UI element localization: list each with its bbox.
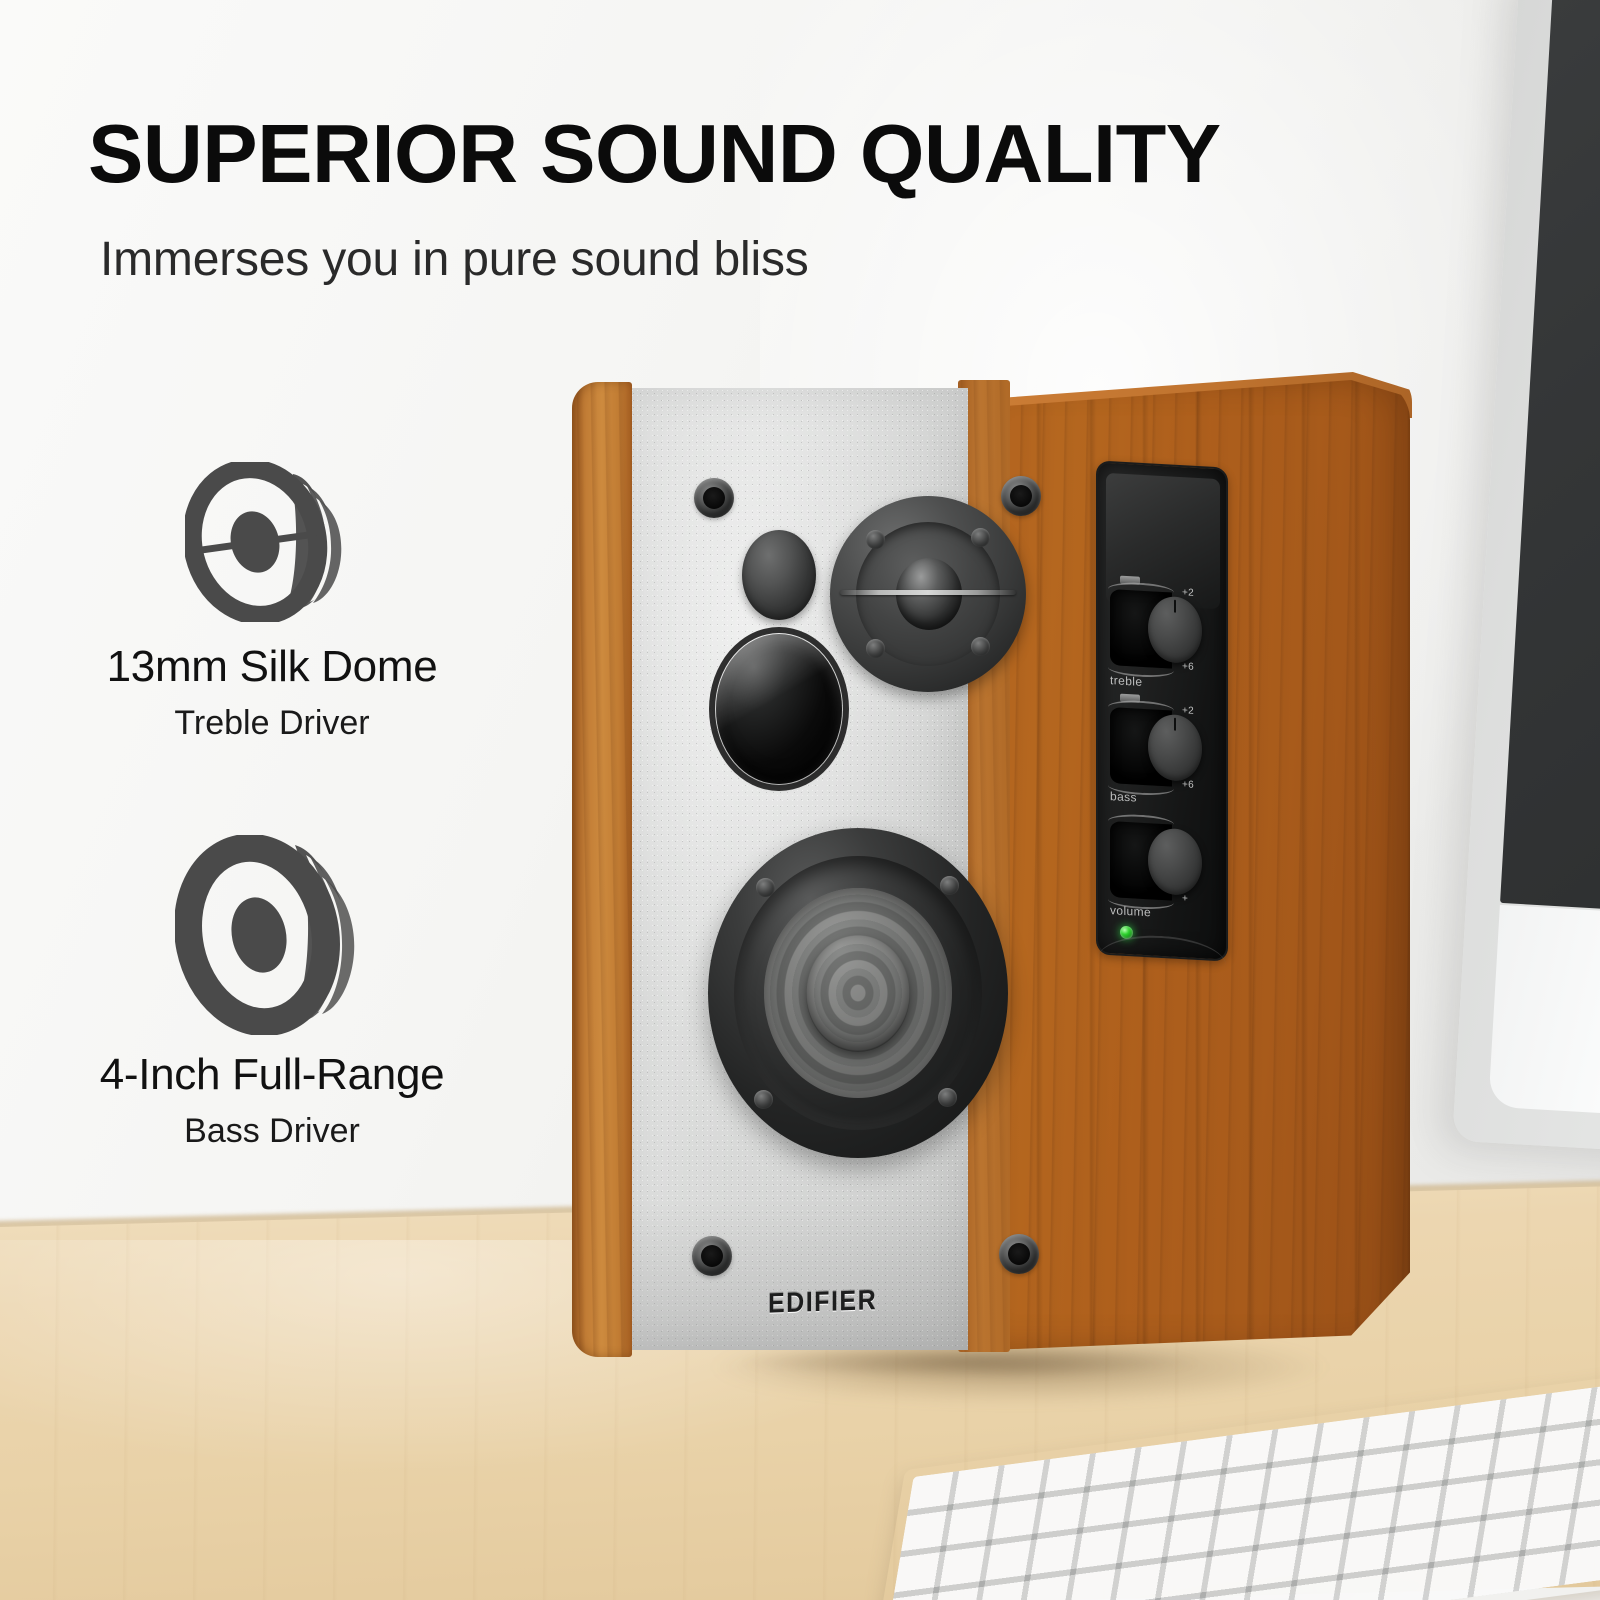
treble-scale-top: +2 xyxy=(1182,587,1194,599)
cabinet-front-left-edge xyxy=(572,382,632,1357)
woofer-screw xyxy=(754,1090,773,1109)
speaker-front-baffle: EDIFIER xyxy=(620,388,968,1350)
treble-knob-indicator xyxy=(1174,600,1176,613)
feature-bass-driver: 4-Inch Full-Range Bass Driver xyxy=(42,830,502,1151)
grille-mount-hole xyxy=(999,1234,1039,1274)
treble-label: treble xyxy=(1110,673,1142,689)
volume-label: volume xyxy=(1110,903,1151,919)
tweeter-screw xyxy=(866,639,885,658)
grille-mount-hole xyxy=(1001,476,1041,516)
woofer-screw xyxy=(940,876,959,895)
treble-driver-tweeter xyxy=(830,496,1026,692)
baffle-shading xyxy=(620,1200,968,1350)
bass-control-row[interactable]: +2 +6 xyxy=(1108,699,1220,801)
feature-title: 4-Inch Full-Range xyxy=(42,1050,502,1100)
page-subtitle: Immerses you in pure sound bliss xyxy=(100,232,809,287)
feature-treble-driver: 13mm Silk Dome Treble Driver xyxy=(42,452,502,743)
port-lip xyxy=(709,627,849,791)
baffle-oval-button[interactable] xyxy=(742,530,816,620)
tweeter-screw xyxy=(971,528,990,547)
edifier-bookshelf-speaker: EDIFIER +2 +6 treble xyxy=(560,372,1430,1382)
tweeter-screw xyxy=(866,530,885,549)
bass-reflex-port xyxy=(716,634,842,784)
tweeter-speaker-icon xyxy=(42,452,502,632)
woofer-screw xyxy=(938,1088,957,1107)
feature-title: 13mm Silk Dome xyxy=(42,642,502,692)
woofer-speaker-icon xyxy=(42,830,502,1040)
grille-mount-hole xyxy=(692,1236,732,1276)
page-title: SUPERIOR SOUND QUALITY xyxy=(88,112,1408,197)
bass-scale-top: +2 xyxy=(1182,705,1194,717)
product-marketing-image: SUPERIOR SOUND QUALITY Immerses you in p… xyxy=(0,0,1600,1600)
woofer-screw xyxy=(756,878,775,897)
control-panel: +2 +6 treble +2 +6 bass + xyxy=(1096,460,1228,961)
tweeter-screw xyxy=(971,637,990,656)
bass-knob-indicator xyxy=(1174,718,1176,731)
treble-control-row[interactable]: +2 +6 xyxy=(1108,581,1220,683)
bass-driver-woofer xyxy=(708,828,1008,1158)
tweeter-crossbar xyxy=(840,590,1016,595)
bass-scale-bottom: +6 xyxy=(1182,779,1194,791)
feature-subtitle: Treble Driver xyxy=(42,704,502,743)
brand-badge: EDIFIER xyxy=(768,1285,877,1321)
monitor-chin xyxy=(1488,905,1600,1123)
woofer-dust-cap xyxy=(806,936,910,1052)
volume-scale-bottom: + xyxy=(1182,893,1188,904)
feature-subtitle: Bass Driver xyxy=(42,1112,502,1151)
grille-mount-hole xyxy=(694,478,734,518)
volume-control-row[interactable]: + xyxy=(1108,813,1220,915)
bass-label: bass xyxy=(1110,789,1137,805)
treble-scale-bottom: +6 xyxy=(1182,661,1194,673)
